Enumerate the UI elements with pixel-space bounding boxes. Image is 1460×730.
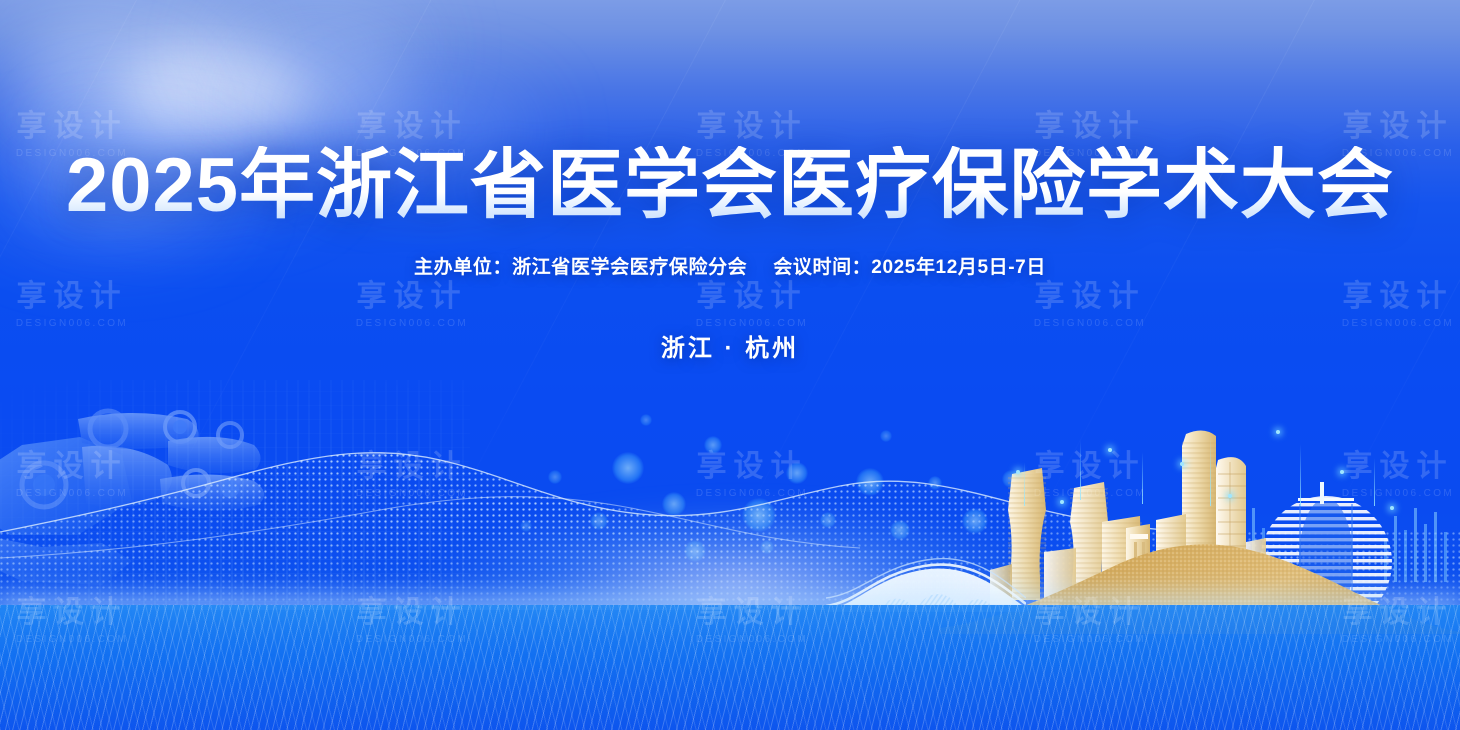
bokeh-dot — [704, 436, 722, 454]
watermark: 享设计DESIGN006.COM — [1342, 282, 1454, 329]
spark-dot — [1276, 430, 1280, 434]
watermark-en: DESIGN006.COM — [16, 635, 128, 645]
watermark-cn: 享设计 — [1034, 452, 1146, 482]
robot-hand-icon — [0, 385, 312, 635]
watermark-en: DESIGN006.COM — [696, 489, 808, 499]
diagonal-sheen-overlay — [0, 0, 1460, 730]
watermark-cn: 享设计 — [1034, 598, 1146, 628]
spark-dot — [1016, 470, 1020, 474]
bokeh-dot — [856, 468, 884, 496]
bokeh-dot — [520, 520, 532, 532]
watermark-cn: 享设计 — [1342, 452, 1454, 482]
watermark-cn: 享设计 — [16, 452, 128, 482]
organizer-label: 主办单位： — [414, 257, 512, 278]
spark-dot — [1390, 506, 1394, 510]
watermark-cn: 享设计 — [1034, 112, 1146, 142]
spark-dot — [1340, 470, 1344, 474]
particle-wave-mesh — [0, 382, 1460, 612]
golden-dune — [940, 524, 1460, 634]
watermark-cn: 享设计 — [356, 452, 468, 482]
watermark-cn: 享设计 — [356, 282, 468, 312]
watermark: 享设计DESIGN006.COM — [356, 282, 468, 329]
bokeh-dot — [662, 492, 686, 516]
light-streak — [1300, 444, 1301, 506]
watermark-cn: 享设计 — [1034, 282, 1146, 312]
watermark-cn: 享设计 — [356, 598, 468, 628]
date-value: 2025年12月5日-7日 — [871, 257, 1046, 278]
conference-poster: 享设计DESIGN006.COM享设计DESIGN006.COM享设计DESIG… — [0, 0, 1460, 730]
bokeh-dot — [890, 520, 910, 540]
bokeh-particle-layer — [0, 0, 1460, 730]
horizon-line — [0, 605, 1460, 610]
location-text: 浙江 · 杭州 — [0, 328, 1460, 363]
watermark-cn: 享设计 — [16, 598, 128, 628]
watermark-en: DESIGN006.COM — [1342, 635, 1454, 645]
bokeh-dot — [928, 476, 942, 490]
spark-dot — [1180, 462, 1184, 466]
watermark-cn: 享设计 — [1342, 598, 1454, 628]
spark-dot — [1228, 494, 1232, 498]
cloud-shape — [20, 10, 250, 130]
watermark-en: DESIGN006.COM — [16, 489, 128, 499]
watermark-cn: 享设计 — [696, 282, 808, 312]
watermark: 享设计DESIGN006.COM — [16, 282, 128, 329]
bokeh-dot — [612, 452, 644, 484]
watermark-en: DESIGN006.COM — [1034, 635, 1146, 645]
bokeh-dot — [548, 470, 562, 484]
watermark-cn: 享设计 — [16, 282, 128, 312]
watermark: 享设计DESIGN006.COM — [696, 598, 808, 645]
bokeh-dot — [590, 512, 608, 530]
watermark: 享设计DESIGN006.COM — [356, 598, 468, 645]
spark-dot — [1060, 500, 1064, 504]
cloud-shape — [120, 44, 310, 144]
hangzhou-skyline — [990, 412, 1460, 612]
light-streak — [1142, 452, 1143, 504]
watermark-en: DESIGN006.COM — [1034, 489, 1146, 499]
light-streak — [1024, 462, 1025, 506]
watermark-cn: 享设计 — [1342, 112, 1454, 142]
cloud-shape — [252, 62, 402, 144]
watermark: 享设计DESIGN006.COM — [1034, 282, 1146, 329]
watermark: 享设计DESIGN006.COM — [1342, 598, 1454, 645]
watermark: 享设计DESIGN006.COM — [356, 452, 468, 499]
circuit-texture — [0, 380, 470, 700]
light-streak — [1210, 436, 1211, 506]
watermark: 享设计DESIGN006.COM — [16, 598, 128, 645]
bokeh-dot — [880, 430, 892, 442]
watermark: 享设计DESIGN006.COM — [1034, 598, 1146, 645]
watermark: 享设计DESIGN006.COM — [696, 282, 808, 329]
meta-line: 主办单位：浙江省医学会医疗保险分会会议时间：2025年12月5日-7日 — [0, 252, 1460, 279]
horizon-glow — [429, 500, 1049, 670]
watermark-en: DESIGN006.COM — [356, 489, 468, 499]
watermark-en: DESIGN006.COM — [356, 635, 468, 645]
light-streak — [1374, 458, 1375, 506]
spark-dot — [1108, 448, 1112, 452]
bokeh-dot — [760, 540, 774, 554]
bokeh-dot — [786, 462, 808, 484]
watermark-cn: 享设计 — [356, 112, 468, 142]
bottom-grid-mesh — [0, 605, 1460, 730]
watermark-cn: 享设计 — [16, 112, 128, 142]
organizer-value: 浙江省医学会医疗保险分会 — [512, 257, 747, 278]
watermark: 享设计DESIGN006.COM — [1034, 452, 1146, 499]
watermark-cn: 享设计 — [1342, 282, 1454, 312]
watermark: 享设计DESIGN006.COM — [696, 452, 808, 499]
bokeh-dot — [742, 498, 776, 532]
watermark-en: DESIGN006.COM — [696, 635, 808, 645]
bokeh-dot — [962, 508, 988, 534]
watermark-cn: 享设计 — [696, 112, 808, 142]
watermark-cn: 享设计 — [696, 598, 808, 628]
watermark-en: DESIGN006.COM — [1342, 489, 1454, 499]
watermark-cn: 享设计 — [696, 452, 808, 482]
arch-bridge — [826, 536, 1026, 612]
bokeh-dot — [1002, 470, 1020, 488]
light-streak — [1080, 440, 1081, 500]
page-title: 2025年浙江省医学会医疗保险学术大会 — [0, 146, 1460, 225]
date-label: 会议时间： — [773, 257, 871, 278]
watermark: 享设计DESIGN006.COM — [16, 452, 128, 499]
cloud-shape — [210, 4, 420, 90]
bokeh-dot — [640, 414, 652, 426]
bokeh-dot — [684, 540, 706, 562]
spark-layer — [0, 0, 1460, 730]
watermark-layer: 享设计DESIGN006.COM享设计DESIGN006.COM享设计DESIG… — [0, 0, 1460, 730]
bokeh-dot — [820, 512, 836, 528]
watermark: 享设计DESIGN006.COM — [1342, 452, 1454, 499]
